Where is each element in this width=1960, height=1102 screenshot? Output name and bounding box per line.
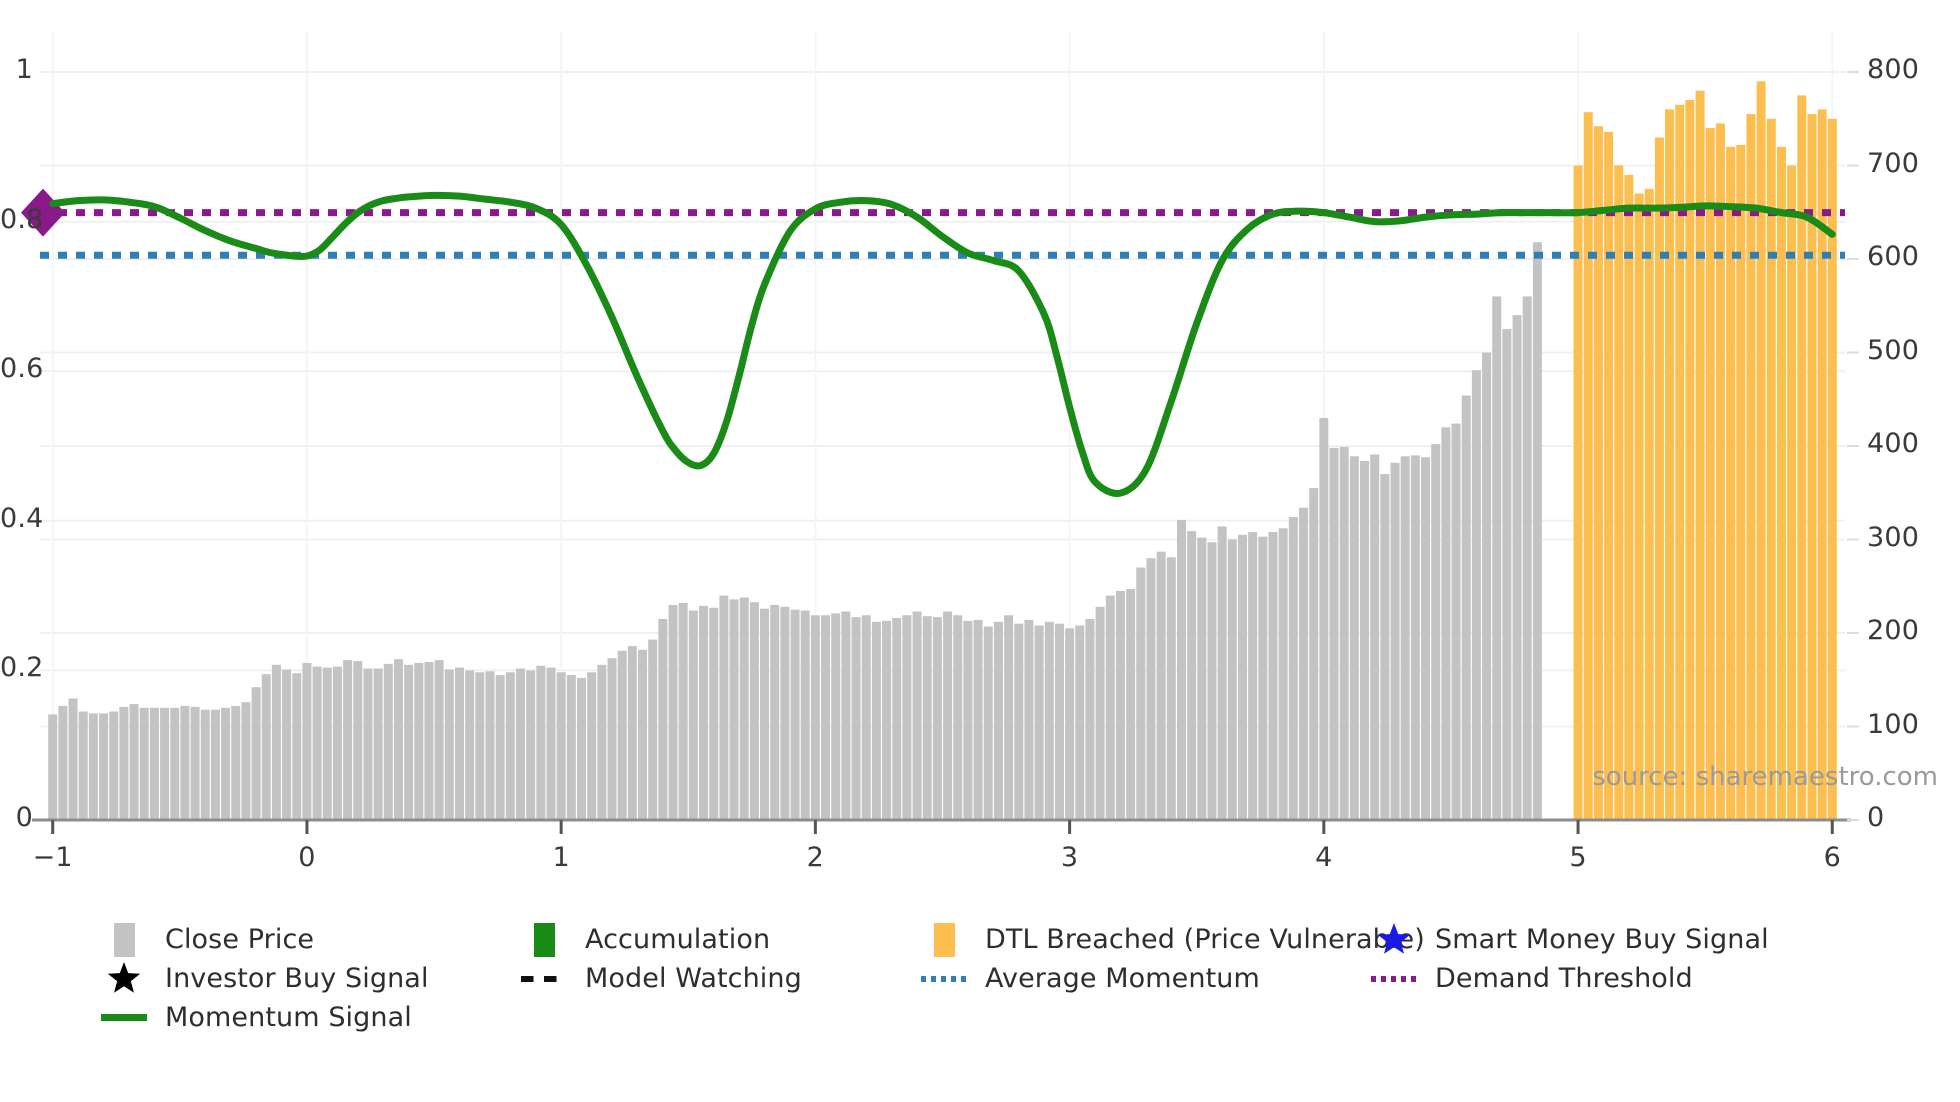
bar	[984, 626, 993, 820]
bar	[841, 611, 850, 820]
bar	[1502, 329, 1511, 820]
bar	[241, 702, 250, 820]
bar	[1492, 296, 1501, 820]
bar	[130, 704, 139, 820]
bar	[1279, 528, 1288, 820]
bar	[424, 662, 433, 820]
bar	[282, 669, 291, 820]
bar	[780, 607, 789, 820]
bar	[262, 674, 271, 820]
bar	[1045, 622, 1054, 820]
bar	[1004, 615, 1013, 820]
bar	[1574, 166, 1583, 821]
bar	[1370, 454, 1379, 820]
bar	[953, 615, 962, 820]
bar	[1319, 418, 1328, 820]
y-axis-right-tick-label: 100	[1867, 709, 1937, 740]
bar	[201, 710, 210, 820]
bar	[1085, 619, 1094, 820]
y-axis-right-tick-label: 0	[1867, 802, 1937, 833]
bar	[943, 611, 952, 820]
y-axis-right-tick-label: 700	[1867, 148, 1937, 179]
y-axis-left-tick-label: 0.8	[0, 204, 33, 235]
bar	[1716, 123, 1725, 820]
bar	[1513, 315, 1522, 820]
bar	[750, 602, 759, 820]
bar	[963, 621, 972, 820]
bar	[384, 664, 393, 820]
bar	[709, 608, 718, 820]
legend-item-dtl-breached[interactable]: DTL Breached (Price Vulnerable)	[915, 920, 1425, 959]
bar	[638, 650, 647, 820]
legend-label: Average Momentum	[985, 963, 1260, 994]
bar	[1014, 624, 1023, 820]
y-axis-right-tick-label: 400	[1867, 428, 1937, 459]
average-momentum-dotted-line-icon	[915, 962, 973, 996]
bar	[170, 708, 179, 820]
bar	[252, 687, 261, 820]
bar	[323, 668, 332, 820]
bar	[394, 659, 403, 820]
bar	[1533, 242, 1542, 820]
legend-item-model-watching[interactable]: Model Watching	[515, 959, 802, 998]
bar	[1635, 194, 1644, 820]
y-axis-left-tick-label: 0	[0, 802, 33, 833]
bar	[119, 707, 128, 820]
x-axis-tick-label: 2	[775, 842, 855, 873]
bar	[1309, 488, 1318, 820]
bar	[313, 667, 322, 820]
chart-legend: Close PriceAccumulationDTL Breached (Pri…	[95, 920, 1935, 1037]
bar	[831, 613, 840, 820]
bar	[1706, 128, 1715, 820]
model-watching-dashed-line-icon	[515, 962, 573, 996]
bar	[933, 617, 942, 820]
bar	[1726, 147, 1735, 820]
bar	[79, 712, 88, 820]
momentum-signal-line-icon	[101, 1014, 147, 1021]
bar	[730, 599, 739, 820]
bar	[669, 605, 678, 820]
x-axis-tick-label: 6	[1792, 842, 1872, 873]
bar	[363, 669, 372, 820]
chart-figure: 00.20.40.60.810100200300400500600700800−…	[0, 0, 1960, 1102]
bar	[1035, 626, 1044, 820]
smart-money-buy-signal-star-icon	[1365, 923, 1423, 957]
bar	[1248, 532, 1257, 820]
bar	[445, 669, 454, 820]
bar	[770, 605, 779, 820]
legend-label: Accumulation	[585, 924, 770, 955]
bar	[1584, 112, 1593, 820]
y-axis-right-tick-label: 300	[1867, 522, 1937, 553]
average-momentum-dotted-line-icon	[921, 976, 967, 982]
bar	[1797, 95, 1806, 820]
bar	[862, 615, 871, 820]
bar	[231, 706, 240, 820]
bar	[1452, 424, 1461, 820]
bar	[577, 678, 586, 820]
accumulation-swatch-icon	[515, 923, 573, 957]
bar	[1746, 114, 1755, 820]
bar	[658, 619, 667, 820]
legend-row: Close PriceAccumulationDTL Breached (Pri…	[95, 920, 1935, 959]
bar	[1187, 531, 1196, 820]
bar	[89, 713, 98, 820]
bar	[292, 673, 301, 820]
bar	[211, 710, 220, 820]
legend-label: Model Watching	[585, 963, 802, 994]
bar	[58, 706, 67, 820]
bar	[557, 672, 566, 820]
bar	[1431, 444, 1440, 820]
bar	[1360, 461, 1369, 820]
accumulation-swatch-icon	[534, 923, 555, 957]
bar-series-dtl-breached-price-vulnerable-	[1574, 81, 1837, 820]
bar	[913, 611, 922, 820]
bar	[902, 615, 911, 820]
bar	[699, 606, 708, 820]
bar	[302, 663, 311, 820]
bar	[1472, 370, 1481, 820]
bar	[587, 672, 596, 820]
bar	[475, 672, 484, 820]
bar	[69, 698, 78, 820]
bar	[689, 611, 698, 820]
bar	[567, 675, 576, 820]
bar	[760, 609, 769, 820]
demand-threshold-dotted-line-icon	[1371, 976, 1417, 982]
bar	[1024, 620, 1033, 820]
bar	[414, 663, 423, 820]
bar	[1177, 520, 1186, 820]
bar	[1736, 145, 1745, 820]
bar	[1614, 166, 1623, 821]
source-attribution: source: sharemaestro.com	[1592, 762, 1938, 792]
bar	[455, 668, 464, 820]
bar	[597, 665, 606, 820]
bar	[1421, 457, 1430, 820]
bar	[1330, 448, 1339, 820]
bar	[1767, 119, 1776, 820]
bar	[191, 707, 200, 820]
x-axis-tick-label: 1	[521, 842, 601, 873]
bar	[1380, 474, 1389, 820]
bar	[821, 615, 830, 820]
bar	[892, 618, 901, 820]
x-axis-tick-label: 3	[1030, 842, 1110, 873]
x-axis-tick-label: 0	[267, 842, 347, 873]
bar	[1604, 132, 1613, 820]
bar	[1126, 589, 1135, 820]
bar	[1624, 175, 1633, 820]
bar	[1258, 537, 1267, 820]
bar	[1106, 596, 1115, 820]
dtl-breached-swatch-icon	[934, 923, 955, 957]
x-axis-tick-label: 4	[1284, 842, 1364, 873]
bar	[1157, 552, 1166, 820]
bar	[516, 669, 525, 820]
bar	[648, 640, 657, 820]
y-axis-right-tick-label: 200	[1867, 615, 1937, 646]
legend-row: Investor Buy SignalModel WatchingAverage…	[95, 959, 1935, 998]
bar	[1828, 119, 1837, 820]
bar	[1482, 353, 1491, 821]
bar	[1197, 538, 1206, 820]
bar	[740, 597, 749, 820]
x-axis-tick-label: −1	[13, 842, 93, 873]
bar	[811, 615, 820, 820]
momentum-signal-line-icon	[95, 1001, 153, 1035]
legend-label: Smart Money Buy Signal	[1435, 924, 1769, 955]
bar	[872, 622, 881, 820]
legend-item-average-momentum[interactable]: Average Momentum	[915, 959, 1260, 998]
legend-item-demand-threshold[interactable]: Demand Threshold	[1365, 959, 1693, 998]
bar	[852, 617, 861, 820]
bar	[374, 669, 383, 820]
bar-series-close-price	[48, 242, 1542, 820]
bar	[465, 670, 474, 820]
bar	[1696, 91, 1705, 820]
bar	[546, 668, 555, 820]
x-axis-tick-label: 5	[1538, 842, 1618, 873]
bar	[99, 713, 108, 820]
bar	[1116, 591, 1125, 820]
bar	[221, 708, 230, 820]
bar	[618, 651, 627, 820]
legend-label: Close Price	[165, 924, 314, 955]
bar	[1401, 456, 1410, 820]
legend-label: Momentum Signal	[165, 1002, 412, 1033]
bar	[974, 620, 983, 820]
y-axis-left-tick-label: 0.6	[0, 353, 33, 384]
legend-row: Momentum Signal	[95, 998, 1935, 1037]
bar	[526, 670, 535, 820]
legend-item-accumulation[interactable]: Accumulation	[515, 920, 770, 959]
bar	[1289, 517, 1298, 820]
close-price-swatch-icon	[95, 923, 153, 957]
bar	[1218, 526, 1227, 820]
bar	[333, 667, 342, 820]
bar	[1167, 557, 1176, 820]
bar	[994, 622, 1003, 820]
bar	[180, 706, 189, 820]
bar	[1594, 126, 1603, 820]
legend-item-momentum-signal[interactable]: Momentum Signal	[95, 998, 412, 1037]
bar	[272, 665, 281, 820]
bar	[109, 712, 118, 820]
bar	[485, 671, 494, 820]
bar	[1757, 81, 1766, 820]
momentum-signal-line	[53, 195, 1833, 493]
smart-money-buy-signal-star-icon	[1376, 922, 1412, 958]
y-axis-left-tick-label: 0.2	[0, 652, 33, 683]
y-axis-left-tick-label: 1	[0, 54, 33, 85]
bar	[882, 621, 891, 820]
bar	[1075, 626, 1084, 820]
bar	[435, 660, 444, 820]
investor-buy-signal-star-icon	[106, 961, 142, 997]
bar	[48, 714, 57, 820]
bar	[1238, 535, 1247, 820]
bar	[343, 660, 352, 820]
bar	[1055, 624, 1064, 820]
bar	[1096, 607, 1105, 820]
bar	[1523, 296, 1532, 820]
bar	[1645, 189, 1654, 820]
legend-label: Investor Buy Signal	[165, 963, 429, 994]
close-price-swatch-icon	[114, 923, 135, 957]
bar	[1207, 542, 1216, 820]
legend-item-smart-money-buy-signal[interactable]: Smart Money Buy Signal	[1365, 920, 1769, 959]
y-axis-right-tick-label: 500	[1867, 335, 1937, 366]
bar	[801, 611, 810, 820]
y-axis-left-tick-label: 0.4	[0, 503, 33, 534]
bar	[1391, 463, 1400, 820]
bar	[1299, 508, 1308, 820]
bar	[1777, 147, 1786, 820]
bar	[1462, 396, 1471, 820]
demand-threshold-dotted-line-icon	[1365, 962, 1423, 996]
bar	[506, 672, 515, 820]
bar	[536, 666, 545, 820]
bar	[608, 658, 617, 820]
bar	[1655, 137, 1664, 820]
bar	[1340, 447, 1349, 820]
bar	[1441, 427, 1450, 820]
bar	[719, 596, 728, 820]
bar	[628, 646, 637, 820]
bar	[1787, 166, 1796, 821]
y-axis-right-tick-label: 800	[1867, 54, 1937, 85]
bar	[1350, 456, 1359, 820]
bar	[791, 610, 800, 820]
legend-label: DTL Breached (Price Vulnerable)	[985, 924, 1425, 955]
dtl-breached-swatch-icon	[915, 923, 973, 957]
bar	[140, 708, 149, 820]
bar	[160, 708, 169, 820]
bar	[353, 661, 362, 820]
bar	[1136, 568, 1145, 820]
bar	[1268, 532, 1277, 820]
bar	[496, 675, 505, 820]
legend-item-investor-buy-signal[interactable]: Investor Buy Signal	[95, 959, 429, 998]
bar	[1228, 540, 1237, 821]
investor-buy-signal-star-icon	[95, 962, 153, 996]
bar	[679, 603, 688, 820]
legend-label: Demand Threshold	[1435, 963, 1693, 994]
bar	[1411, 455, 1420, 820]
bar	[404, 665, 413, 820]
bar	[1065, 628, 1074, 820]
bar	[150, 708, 159, 820]
legend-item-close-price[interactable]: Close Price	[95, 920, 314, 959]
bar	[923, 616, 932, 820]
y-axis-right-tick-label: 600	[1867, 241, 1937, 272]
bar	[1146, 558, 1155, 820]
model-watching-dashed-line-icon	[521, 976, 567, 982]
